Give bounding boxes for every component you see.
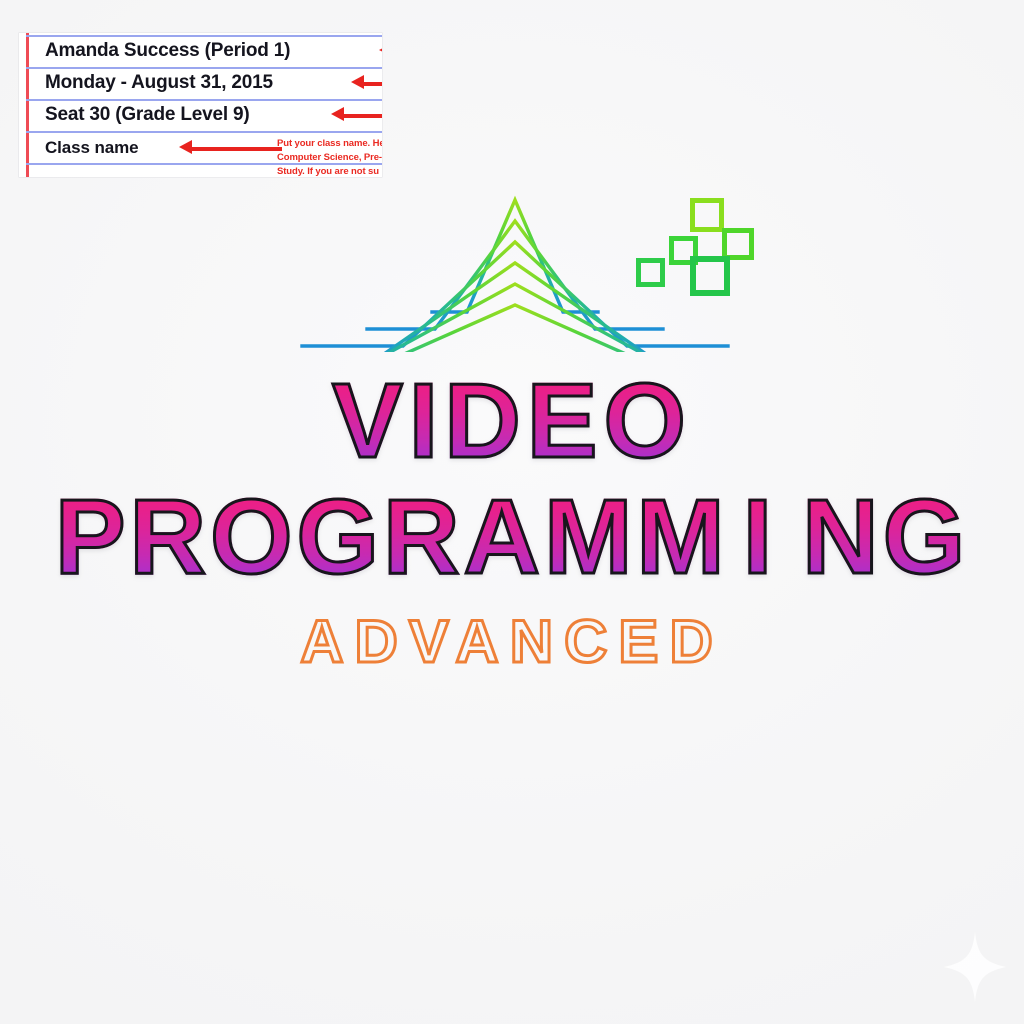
rule-line [26, 99, 382, 101]
accent-square-5 [690, 256, 730, 296]
row-date: Monday - August 31, 2015 [45, 72, 273, 94]
embedded-screenshot[interactable]: Amanda Success (Period 1) Monday - Augus… [19, 33, 382, 177]
poster-canvas: Amanda Success (Period 1) Monday - Augus… [0, 0, 1024, 1024]
title-part-i: I [743, 478, 802, 596]
row-class-name: Class name [45, 138, 139, 158]
row-seat-grade: Seat 30 (Grade Level 9) [45, 104, 250, 126]
margin-line [26, 33, 29, 177]
embedded-screenshot-content: Amanda Success (Period 1) Monday - Augus… [19, 33, 382, 177]
rule-line [26, 131, 382, 133]
sparkle-svg [944, 932, 1006, 1002]
headline-block: VIDEO PROGRAMMING [0, 368, 1024, 590]
page-title-line-2: PROGRAMMING [0, 484, 1024, 590]
waveform-divider [288, 694, 740, 844]
rule-line [26, 163, 382, 165]
annotation-text: Put your class name. He [277, 138, 382, 149]
sparkle-star-watermark-icon [944, 932, 1006, 1002]
rule-line [26, 35, 382, 37]
row-student-name: Amanda Success (Period 1) [45, 40, 290, 62]
accent-square-4 [636, 258, 665, 287]
page-subtitle: ADVANCED [0, 612, 1024, 672]
waveform-svg [288, 694, 740, 844]
rule-line [26, 67, 382, 69]
annotation-text: Computer Science, Pre-A [277, 152, 382, 163]
accent-squares-group [636, 196, 740, 288]
annotation-text: Study. If you are not su [277, 166, 379, 177]
accent-square-1 [690, 198, 724, 232]
title-part-a: PROGRAMM [55, 478, 729, 596]
page-title-line-1: VIDEO [0, 368, 1024, 474]
title-part-b: NG [802, 478, 969, 596]
